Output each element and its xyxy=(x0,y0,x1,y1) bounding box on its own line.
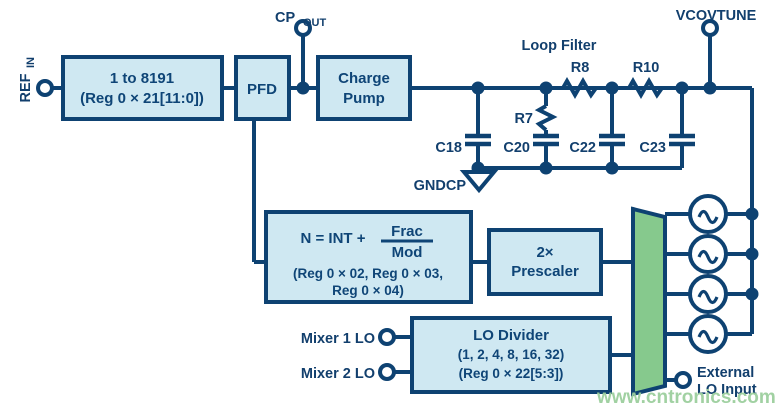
resistor-r7-symbol xyxy=(539,106,553,130)
ground-symbol-gndcp xyxy=(464,172,494,190)
junction-cpout xyxy=(297,82,310,95)
watermark-text: www.cntronics.com xyxy=(596,387,775,408)
junction-r7 xyxy=(540,82,553,95)
terminal-mixer2-lo[interactable] xyxy=(380,365,394,379)
ref-divider-line1: 1 to 8191 xyxy=(110,70,174,87)
prescaler-line2: Prescaler xyxy=(511,263,579,280)
external-lo-line1: External xyxy=(697,365,754,381)
n-divider-frac-denominator: Mod xyxy=(392,244,423,261)
mixer1-lo-label: Mixer 1 LO xyxy=(301,331,375,347)
loop-filter-group-label: Loop Filter xyxy=(522,38,597,54)
lo-divider-line1: LO Divider xyxy=(473,327,549,344)
label-c22: C22 xyxy=(569,140,596,156)
diagram-canvas: 1 to 8191 (Reg 0 × 21[11:0]) PFD Charge … xyxy=(0,0,775,414)
ref-in-base: REF xyxy=(18,73,34,102)
vco-oscillator-bank xyxy=(665,196,759,352)
capacitor-c23-plate-right xyxy=(669,136,695,144)
terminal-ref-in[interactable] xyxy=(38,81,52,95)
mixer2-lo-label: Mixer 2 LO xyxy=(301,366,375,382)
junction-gnd-c22 xyxy=(606,162,619,175)
capacitor-c18-c20-plate-left xyxy=(465,136,491,144)
block-charge-pump[interactable] xyxy=(318,57,410,119)
cp-out-base: CP xyxy=(275,10,295,26)
n-divider-regs-line1: (Reg 0 × 02, Reg 0 × 03, xyxy=(293,266,443,281)
label-ref-in: REF IN xyxy=(18,57,37,103)
oscillator-4 xyxy=(665,316,752,352)
block-prescaler[interactable] xyxy=(489,230,601,294)
label-c20: C20 xyxy=(503,140,530,156)
junction-gnd-c20 xyxy=(540,162,553,175)
n-divider-regs-line2: Reg 0 × 04) xyxy=(332,283,404,298)
vcovtune-label: VCOVTUNE xyxy=(676,8,757,24)
pll-block-diagram: 1 to 8191 (Reg 0 × 21[11:0]) PFD Charge … xyxy=(0,0,775,414)
capacitor-c20-c22-plate xyxy=(533,136,559,144)
n-divider-equation-lhs: N = INT + xyxy=(300,230,365,247)
lo-divider-line3: (Reg 0 × 22[5:3]) xyxy=(459,366,564,381)
loop-filter-network xyxy=(478,88,682,168)
terminal-mixer1-lo[interactable] xyxy=(380,330,394,344)
charge-pump-line1: Charge xyxy=(338,70,390,87)
terminal-external-lo[interactable] xyxy=(676,373,690,387)
oscillator-3 xyxy=(665,276,759,312)
vco-mux-trapezoid[interactable] xyxy=(633,209,665,394)
n-divider-frac-numerator: Frac xyxy=(391,223,423,240)
junction-vcovtune xyxy=(704,82,717,95)
charge-pump-line2: Pump xyxy=(343,90,385,107)
junction-c22 xyxy=(606,82,619,95)
oscillator-2 xyxy=(665,236,759,272)
prescaler-line1: 2× xyxy=(536,244,553,261)
capacitor-c22-c23-plate xyxy=(599,136,625,144)
pfd-label: PFD xyxy=(247,81,277,98)
label-c18: C18 xyxy=(435,140,462,156)
block-ref-divider[interactable] xyxy=(63,57,222,119)
junction-c18 xyxy=(472,82,485,95)
ref-in-subscript: IN xyxy=(25,57,37,68)
gndcp-label: GNDCP xyxy=(414,178,467,194)
ref-divider-line2: (Reg 0 × 21[11:0]) xyxy=(80,90,204,107)
label-r7: R7 xyxy=(514,111,533,127)
oscillator-1 xyxy=(665,196,759,232)
label-r10: R10 xyxy=(633,60,660,76)
lo-divider-line2: (1, 2, 4, 8, 16, 32) xyxy=(458,347,565,362)
label-c23: C23 xyxy=(639,140,666,156)
cp-out-subscript: OUT xyxy=(303,17,327,29)
junction-c23 xyxy=(676,82,689,95)
label-r8: R8 xyxy=(571,60,590,76)
